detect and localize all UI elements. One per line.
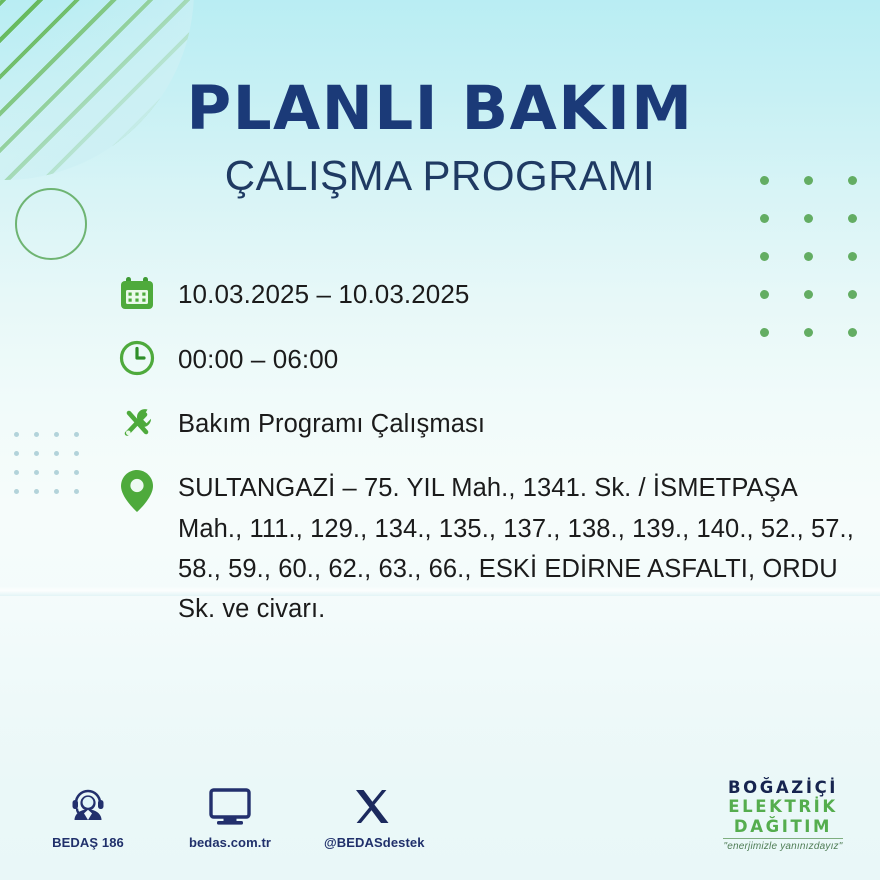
contact-phone-label: BEDAŞ 186 (40, 835, 136, 850)
company-logo: BOĞAZİÇİ ELEKTRİK DAĞITIM "enerjimizle y… (708, 778, 858, 854)
info-row-work-type: Bakım Programı Çalışması (118, 402, 858, 444)
support-agent-icon (40, 784, 136, 830)
contact-phone[interactable]: BEDAŞ 186 (40, 784, 136, 850)
contact-website[interactable]: bedas.com.tr (182, 784, 278, 850)
info-row-time: 00:00 – 06:00 (118, 337, 858, 380)
page-title: PLANLI BAKIM (0, 78, 880, 139)
map-pin-icon (118, 466, 178, 514)
poster-header: PLANLI BAKIM ÇALIŞMA PROGRAMI (0, 78, 880, 197)
info-list: 10.03.2025 – 10.03.2025 00:00 – 06:00 (118, 272, 858, 652)
contact-website-label: bedas.com.tr (182, 835, 278, 850)
info-value-location: SULTANGAZİ – 75. YIL Mah., 1341. Sk. / İ… (178, 466, 858, 629)
logo-tagline: "enerjimizle yanınızdayız" (723, 838, 842, 852)
planned-maintenance-poster: PLANLI BAKIM ÇALIŞMA PROGRAMI (0, 0, 880, 880)
page-subtitle: ÇALIŞMA PROGRAMI (0, 155, 880, 197)
info-value-work-type: Bakım Programı Çalışması (178, 402, 485, 444)
info-value-time: 00:00 – 06:00 (178, 337, 338, 380)
tools-icon (118, 402, 178, 442)
monitor-icon (182, 784, 278, 830)
x-twitter-icon (324, 784, 420, 830)
logo-line-bogazici: BOĞAZİÇİ (708, 778, 858, 797)
info-value-date: 10.03.2025 – 10.03.2025 (178, 272, 469, 315)
footer-contacts: BEDAŞ 186 bedas.com.tr @BEDASdestek (40, 784, 420, 850)
info-row-location: SULTANGAZİ – 75. YIL Mah., 1341. Sk. / İ… (118, 466, 858, 629)
logo-line-elektrik: ELEKTRİK (708, 797, 858, 816)
info-row-date: 10.03.2025 – 10.03.2025 (118, 272, 858, 315)
logo-line-dagitim: DAĞITIM (708, 817, 858, 836)
circle-outline-decoration (15, 188, 87, 260)
calendar-icon (118, 272, 178, 312)
contact-x-label: @BEDASdestek (324, 835, 420, 850)
contact-x[interactable]: @BEDASdestek (324, 784, 420, 850)
dot-grid-left-decoration (14, 432, 94, 508)
clock-icon (118, 337, 178, 377)
